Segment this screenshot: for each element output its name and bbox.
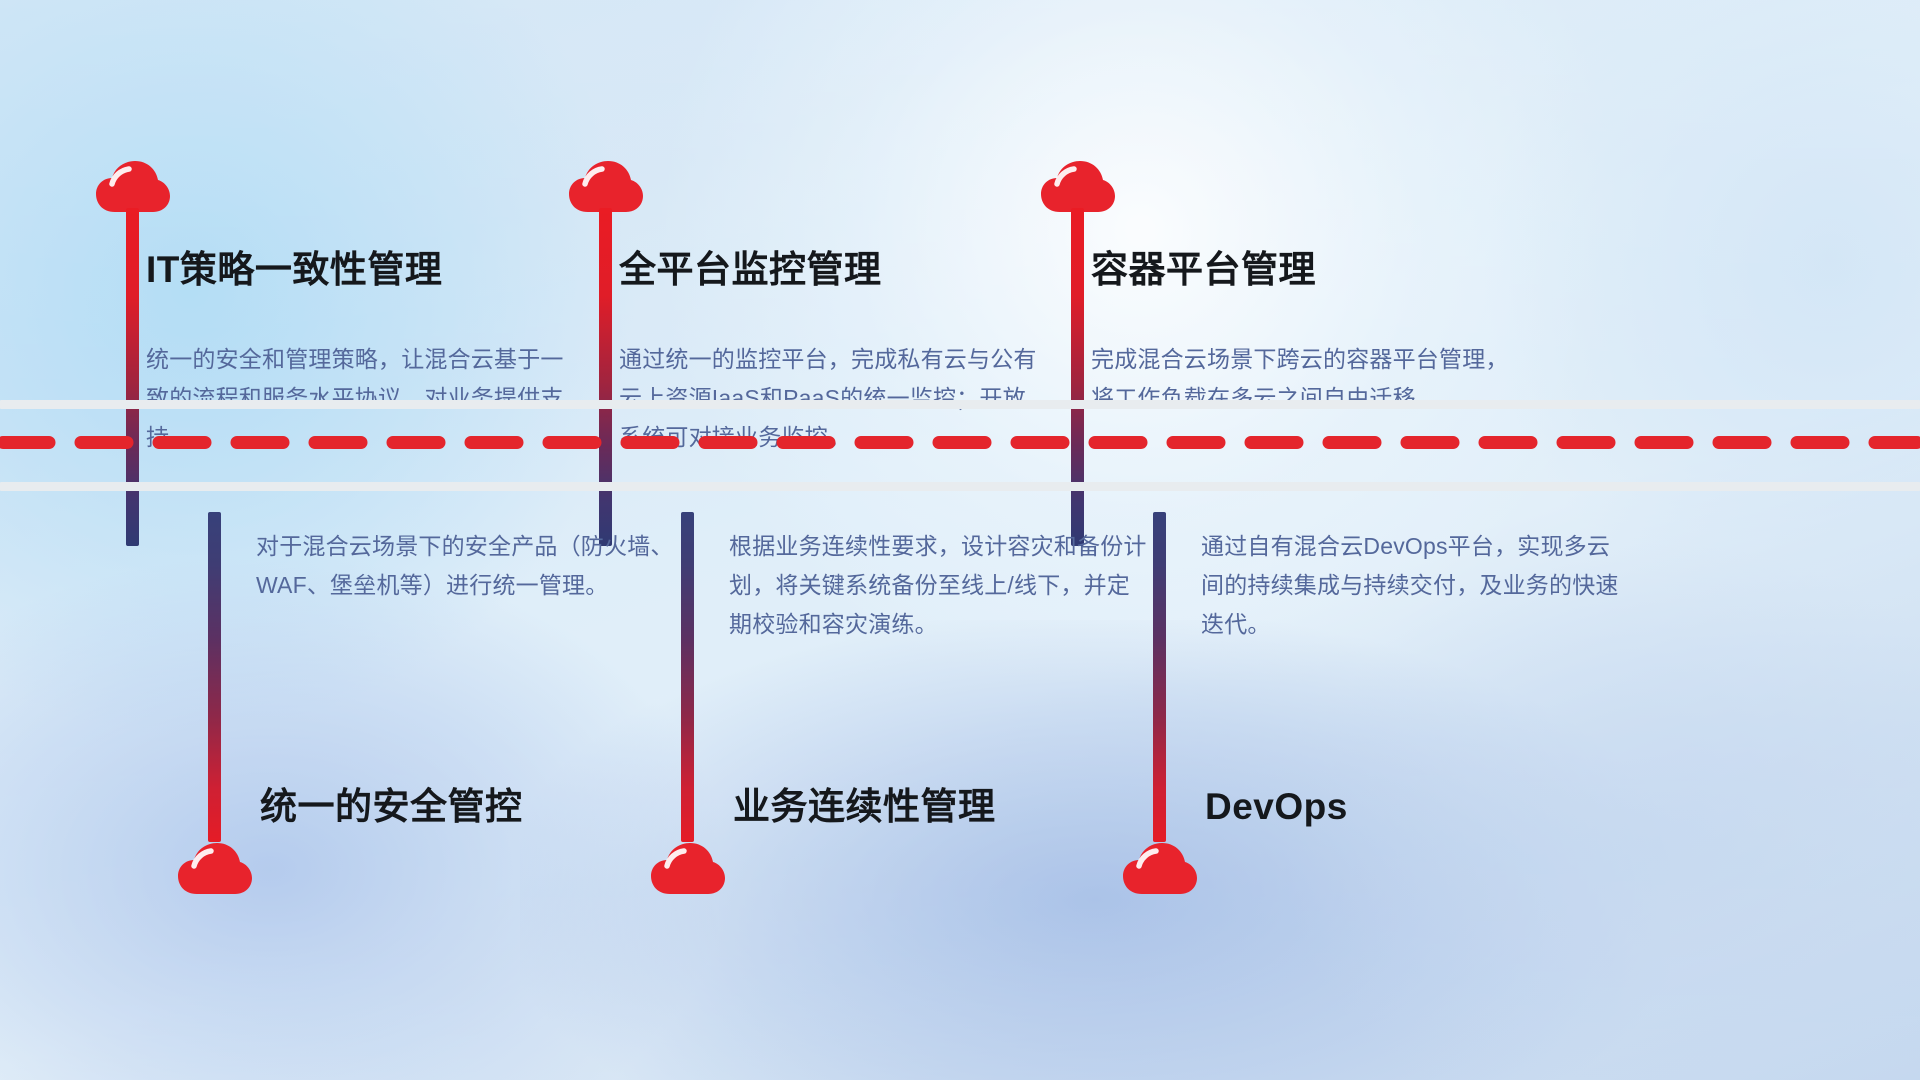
pillar-title: 全平台监控管理 bbox=[619, 251, 882, 288]
pillar-title: IT策略一致性管理 bbox=[146, 251, 442, 288]
pillar-title: 统一的安全管控 bbox=[260, 788, 523, 825]
connector-stem bbox=[681, 512, 694, 842]
pillar-title: DevOps bbox=[1205, 788, 1348, 825]
connector-stem bbox=[208, 512, 221, 842]
pillar-description: 对于混合云场景下的安全产品（防火墙、WAF、堡垒机等）进行统一管理。 bbox=[256, 527, 676, 605]
infographic-canvas: IT策略一致性管理 统一的安全和管理策略，让混合云基于一致的流程和服务水平协议，… bbox=[0, 0, 1920, 1080]
pillar-title: 容器平台管理 bbox=[1091, 251, 1316, 288]
divider-dashed-line bbox=[0, 436, 1920, 449]
pillar-title: 业务连续性管理 bbox=[733, 788, 996, 825]
cloud-icon bbox=[650, 842, 726, 898]
pillar-description: 通过自有混合云DevOps平台，实现多云间的持续集成与持续交付，及业务的快速迭代… bbox=[1201, 527, 1621, 644]
cloud-icon bbox=[177, 842, 253, 898]
divider-rule-top bbox=[0, 400, 1920, 409]
section-divider bbox=[0, 392, 1920, 502]
cloud-icon bbox=[1122, 842, 1198, 898]
divider-rule-bottom bbox=[0, 482, 1920, 491]
pillar-description: 根据业务连续性要求，设计容灾和备份计划，将关键系统备份至线上/线下，并定期校验和… bbox=[729, 527, 1149, 644]
connector-stem bbox=[1153, 512, 1166, 842]
